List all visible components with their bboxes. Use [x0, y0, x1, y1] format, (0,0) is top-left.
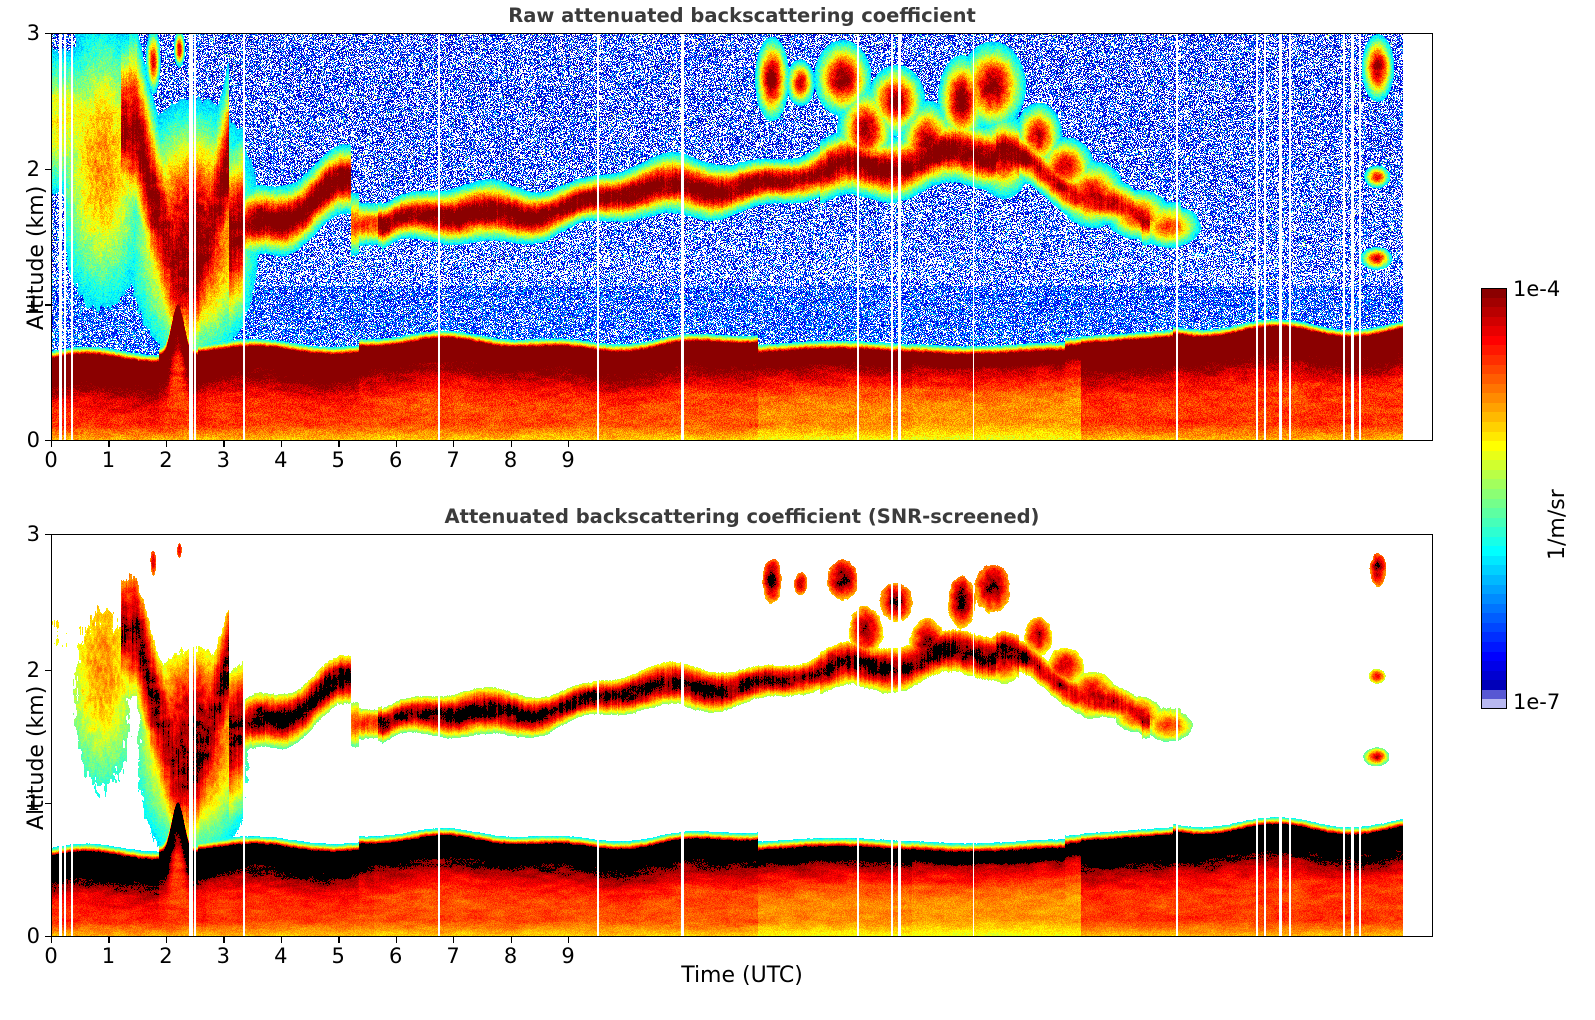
- top-xtick-0: [51, 441, 52, 447]
- bottom-panel-axes: [51, 534, 1433, 937]
- bot-xtick-9: [568, 937, 569, 943]
- bot-xtick-5: [338, 937, 339, 943]
- top-yticklabel-0: 0: [0, 428, 40, 452]
- bot-xtick-3: [223, 937, 224, 943]
- top-ytick-0: [45, 440, 51, 441]
- bot-xtick-4: [281, 937, 282, 943]
- top-ytick-2: [45, 169, 51, 170]
- bottom-panel-xlabel: Time (UTC): [51, 963, 1433, 988]
- top-xticklabel-5: 5: [318, 448, 358, 472]
- bottom-panel-ylabel: Altitude (km): [24, 686, 49, 830]
- top-yticklabel-3: 3: [0, 21, 40, 45]
- top-xtick-4: [281, 441, 282, 447]
- top-panel-axes: [51, 33, 1433, 441]
- top-ytick-3: [45, 33, 51, 34]
- top-xtick-6: [396, 441, 397, 447]
- colorbar-max-label: 1e-4: [1513, 277, 1560, 301]
- bot-xtick-2: [166, 937, 167, 943]
- colorbar-min-label: 1e-7: [1513, 690, 1560, 714]
- top-xticklabel-4: 4: [261, 448, 301, 472]
- top-xticklabel-2: 2: [146, 448, 186, 472]
- bot-yticklabel-0: 0: [0, 924, 40, 948]
- top-xtick-9: [568, 441, 569, 447]
- top-xticklabel-9: 9: [548, 448, 588, 472]
- bot-xtick-6: [396, 937, 397, 943]
- bot-yticklabel-2: 2: [0, 658, 40, 682]
- top-panel-title: Raw attenuated backscattering coefficien…: [51, 4, 1433, 27]
- top-xtick-3: [223, 441, 224, 447]
- lidar-backscatter-figure: Raw attenuated backscattering coefficien…: [0, 0, 1595, 1020]
- top-panel-heatmap: [52, 34, 1433, 441]
- top-panel-ylabel: Altitude (km): [24, 186, 49, 330]
- bot-xtick-0: [51, 937, 52, 943]
- top-xtick-7: [453, 441, 454, 447]
- bot-yticklabel-3: 3: [0, 522, 40, 546]
- top-xtick-1: [108, 441, 109, 447]
- colorbar: [1481, 288, 1507, 709]
- bottom-panel-heatmap: [52, 535, 1433, 937]
- top-xticklabel-3: 3: [203, 448, 243, 472]
- colorbar-gradient: [1481, 288, 1507, 709]
- bot-ytick-0: [45, 936, 51, 937]
- top-yticklabel-2: 2: [0, 157, 40, 181]
- bot-xtick-1: [108, 937, 109, 943]
- bottom-panel-title: Attenuated backscattering coefficient (S…: [51, 505, 1433, 528]
- top-xticklabel-7: 7: [433, 448, 473, 472]
- colorbar-axis-label: 1/m/sr: [1545, 489, 1570, 560]
- top-xtick-2: [166, 441, 167, 447]
- top-xticklabel-1: 1: [88, 448, 128, 472]
- bot-xtick-7: [453, 937, 454, 943]
- top-xtick-8: [511, 441, 512, 447]
- top-xticklabel-8: 8: [491, 448, 531, 472]
- bot-xtick-8: [511, 937, 512, 943]
- top-xticklabel-6: 6: [376, 448, 416, 472]
- bot-ytick-3: [45, 534, 51, 535]
- top-xtick-5: [338, 441, 339, 447]
- bot-ytick-2: [45, 670, 51, 671]
